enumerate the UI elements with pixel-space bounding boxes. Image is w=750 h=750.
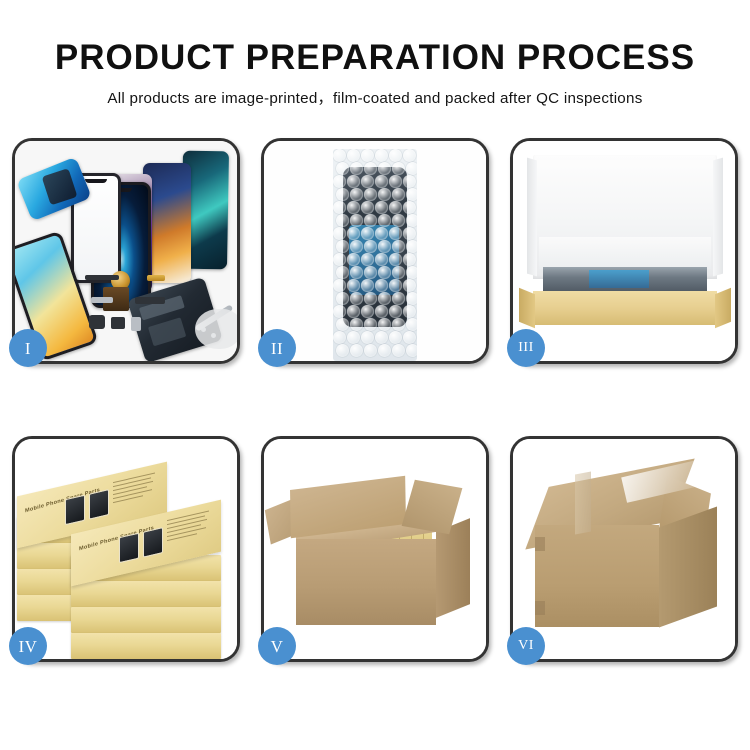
step-badge-4: IV <box>9 627 47 665</box>
step-badge-5: V <box>258 627 296 665</box>
step-panel-1: I <box>12 138 240 364</box>
step-panel-6: VI <box>510 436 738 662</box>
bubble <box>336 240 349 253</box>
bubble <box>392 214 405 227</box>
bubble <box>361 279 374 292</box>
bubble <box>378 188 391 201</box>
wrapped-products-in-box <box>543 267 707 293</box>
bubble <box>364 214 377 227</box>
bubble-wrap-packing-illustration <box>264 141 486 361</box>
step-image-1 <box>15 141 237 361</box>
bubble <box>347 149 360 162</box>
bubble <box>336 162 349 175</box>
bubble <box>361 227 374 240</box>
bubble <box>375 201 388 214</box>
bubble <box>389 201 402 214</box>
bubble <box>350 162 363 175</box>
bubble <box>364 266 377 279</box>
step-panel-4: Mobile Phone Spare Parts Mobile Phone Sp… <box>12 436 240 662</box>
foam-liner <box>539 237 711 269</box>
bubble <box>350 318 363 331</box>
bubble <box>403 253 416 266</box>
bubble <box>389 175 402 188</box>
product-preparation-infographic: PRODUCT PREPARATION PROCESS All products… <box>0 0 750 750</box>
bubble <box>350 344 363 357</box>
bubble <box>350 292 363 305</box>
bubble <box>336 344 349 357</box>
bubble <box>389 227 402 240</box>
packing-tape-tab <box>535 601 545 615</box>
flex-cable-part <box>85 275 119 280</box>
page-subtitle: All products are image-printed，film-coat… <box>0 78 750 109</box>
page-title: PRODUCT PREPARATION PROCESS <box>0 0 750 78</box>
bubble-wrap-texture <box>333 149 417 361</box>
bubble <box>361 253 374 266</box>
bubble <box>406 318 417 331</box>
kraft-box-tray <box>533 291 717 325</box>
bubble <box>333 305 346 318</box>
bubble <box>364 318 377 331</box>
antenna-flex-part <box>135 297 165 304</box>
page-header: PRODUCT PREPARATION PROCESS All products… <box>0 0 750 109</box>
carton-front <box>535 525 659 627</box>
bubble <box>333 149 346 162</box>
bubble <box>361 331 374 344</box>
bubble <box>336 266 349 279</box>
stacked-retail-boxes-illustration: Mobile Phone Spare Parts Mobile Phone Sp… <box>15 439 237 659</box>
step-badge-2: II <box>258 329 296 367</box>
bubble <box>392 188 405 201</box>
bubble <box>403 331 416 344</box>
bubble <box>333 227 346 240</box>
sealed-carton-illustration <box>513 439 735 659</box>
bubble <box>361 149 374 162</box>
bubble <box>347 279 360 292</box>
bubble <box>392 318 405 331</box>
bubble <box>406 266 417 279</box>
bubble <box>347 305 360 318</box>
bubble <box>336 214 349 227</box>
bubble <box>350 214 363 227</box>
bubble <box>347 253 360 266</box>
step-image-5 <box>264 439 486 659</box>
bubble <box>364 162 377 175</box>
bubble <box>378 318 391 331</box>
bubble <box>375 227 388 240</box>
bubble <box>364 344 377 357</box>
step-panel-2: II <box>261 138 489 364</box>
box-stack: Mobile Phone Spare Parts Mobile Phone Sp… <box>17 455 237 655</box>
hand <box>195 309 237 349</box>
bubble <box>336 318 349 331</box>
bubble <box>403 149 416 162</box>
bubble <box>389 253 402 266</box>
bubble <box>333 253 346 266</box>
step-image-2 <box>264 141 486 361</box>
inner-box-packing-illustration <box>513 141 735 361</box>
step-image-4: Mobile Phone Spare Parts Mobile Phone Sp… <box>15 439 237 659</box>
bubble <box>364 240 377 253</box>
bubble <box>378 344 391 357</box>
sim-tray-part <box>131 317 141 331</box>
bubble <box>361 201 374 214</box>
bubble <box>389 331 402 344</box>
bubble <box>378 240 391 253</box>
bubble <box>389 305 402 318</box>
bubble <box>403 175 416 188</box>
bubble <box>378 214 391 227</box>
bubble <box>375 305 388 318</box>
bubble <box>403 305 416 318</box>
bubble <box>333 331 346 344</box>
step-image-3 <box>513 141 735 361</box>
bubble <box>406 292 417 305</box>
step-badge-6: VI <box>507 627 545 665</box>
bubble <box>406 162 417 175</box>
bubble <box>333 175 346 188</box>
step-image-6 <box>513 439 735 659</box>
bubble <box>350 266 363 279</box>
bubble <box>375 149 388 162</box>
taptic-engine-part <box>89 315 105 329</box>
bubble <box>361 175 374 188</box>
bubble <box>375 331 388 344</box>
bubble <box>392 266 405 279</box>
bubble <box>403 279 416 292</box>
packing-tape-strip <box>575 471 591 534</box>
bubble <box>375 253 388 266</box>
bubble <box>378 266 391 279</box>
carton-front <box>296 539 436 625</box>
bubble <box>392 344 405 357</box>
bubble <box>392 162 405 175</box>
carton-side <box>436 518 470 618</box>
step-badge-1: I <box>9 329 47 367</box>
bubble <box>378 292 391 305</box>
bubble <box>403 201 416 214</box>
bubble <box>333 279 346 292</box>
bubble <box>347 227 360 240</box>
bubble <box>375 175 388 188</box>
button-flex-part <box>147 275 165 281</box>
bubble <box>389 149 402 162</box>
bubble <box>406 188 417 201</box>
step-panel-5: V <box>261 436 489 662</box>
packing-tape-tab <box>535 537 545 551</box>
bracket-part <box>91 297 113 303</box>
bubble <box>350 188 363 201</box>
bubble <box>347 201 360 214</box>
step-badge-3: III <box>507 329 545 367</box>
step-panel-3: III <box>510 138 738 364</box>
bubble <box>378 162 391 175</box>
bubble <box>361 305 374 318</box>
bubble <box>403 227 416 240</box>
carton-filling-illustration <box>264 439 486 659</box>
bubble <box>364 292 377 305</box>
bubble <box>364 188 377 201</box>
bubble <box>392 240 405 253</box>
bubble <box>375 279 388 292</box>
bubble <box>347 331 360 344</box>
bubble <box>389 279 402 292</box>
bubble <box>406 344 417 357</box>
process-steps-grid: I II <box>12 138 738 678</box>
bubble <box>333 201 346 214</box>
products-and-spare-parts-illustration <box>15 141 237 361</box>
bubble <box>406 214 417 227</box>
bubble <box>336 188 349 201</box>
bubble <box>350 240 363 253</box>
bubble <box>406 240 417 253</box>
camera-module-part <box>111 317 125 329</box>
bubble <box>336 292 349 305</box>
carton-side <box>659 506 717 627</box>
bubble <box>347 175 360 188</box>
bubble <box>392 292 405 305</box>
